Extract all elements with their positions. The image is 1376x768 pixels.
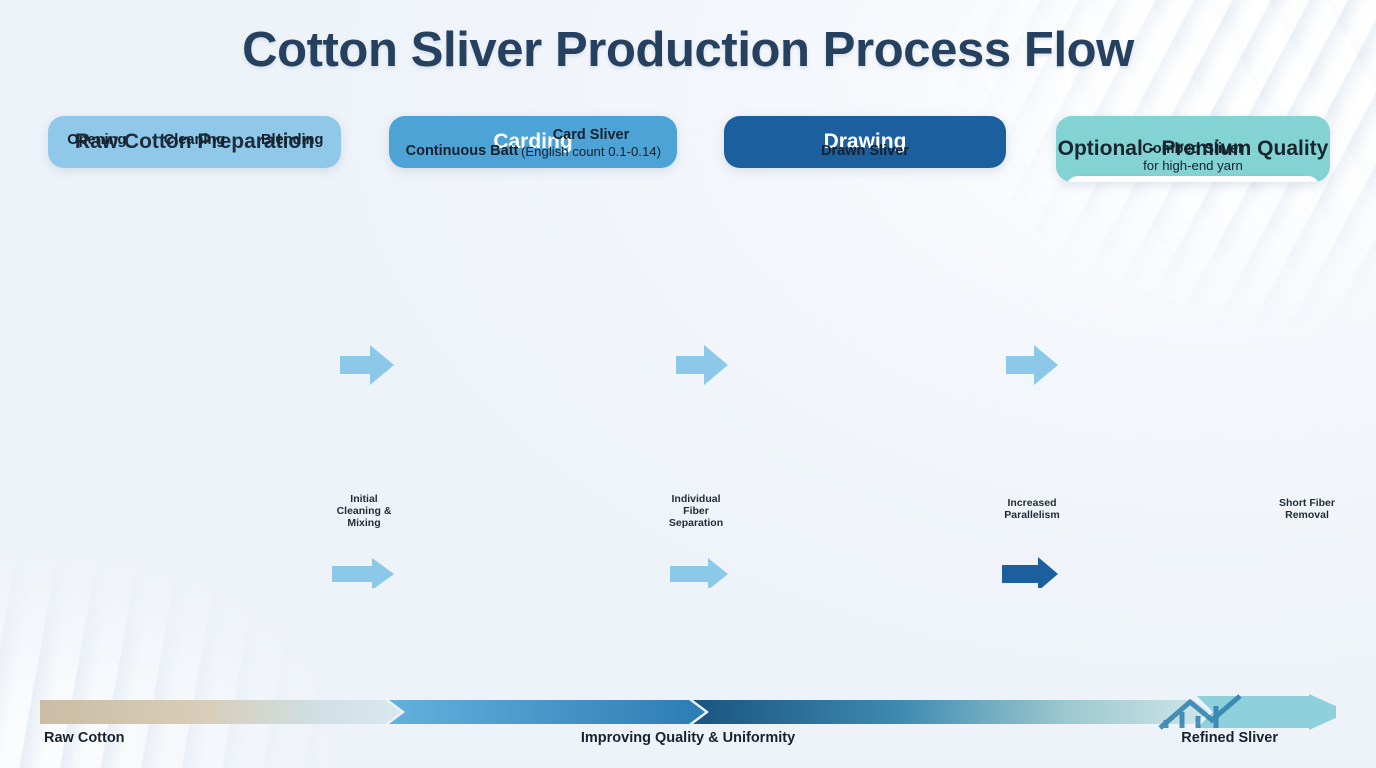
sub-step-label-continuous-batt: Continuous Batt: [397, 143, 527, 160]
product-combing: Combed Sliver for high-end yarn: [1056, 116, 1330, 182]
sub-steps-raw-cotton: Opening Cleaning Blending: [48, 116, 341, 168]
connector-arrow-1-lower: [330, 556, 398, 588]
progress-segment-mid: [389, 700, 705, 724]
connector-arrow-2: [674, 343, 730, 387]
progress-bar: [40, 694, 1336, 730]
progress-label-middle: Improving Quality & Uniformity: [581, 730, 795, 746]
product-carding: Continuous Batt Card Sliver (English cou…: [389, 116, 677, 168]
product-name-card-sliver: Card Sliver: [553, 127, 630, 143]
connector-arrow-1: [338, 343, 396, 387]
page-title: Cotton Sliver Production Process Flow: [0, 22, 1376, 78]
process-flow-panels: Raw Cotton Preparation: [0, 116, 1376, 656]
connector-label-increased-parallelism: Increased Parallelism: [996, 498, 1068, 522]
product-subtitle-combed-sliver: for high-end yarn: [1056, 158, 1330, 174]
product-label-drawn-sliver: Drawn Sliver: [724, 143, 1006, 160]
progress-labels: Raw Cotton Improving Quality & Uniformit…: [40, 730, 1336, 758]
connector-arrow-3: [1004, 343, 1060, 387]
sub-step-label-cleaning: Cleaning: [146, 132, 244, 148]
panel-raw-cotton-preparation[interactable]: Raw Cotton Preparation: [48, 116, 341, 168]
panel-carding[interactable]: Carding: [389, 116, 677, 168]
product-name-combed-sliver: Combed Sliver: [1142, 141, 1244, 157]
connector-label-initial-cleaning-mixing: Initial Cleaning & Mixing: [333, 494, 395, 529]
progress-label-end: Refined Sliver: [1181, 730, 1278, 746]
progress-segment-raw: [40, 700, 401, 724]
panel-optional-premium-quality[interactable]: Optional - Premium Quality: [1056, 116, 1330, 182]
panel-drawing[interactable]: Drawing: [724, 116, 1006, 168]
sub-step-label-blending: Blending: [243, 132, 341, 148]
connector-label-individual-fiber-separation: Individual Fiber Separation: [664, 494, 728, 529]
product-subtitle-card-sliver: (English count 0.1-0.14): [511, 144, 671, 160]
progress-segment-refined: [693, 700, 1209, 724]
connector-arrow-3-lower: [1000, 556, 1062, 588]
connector-label-short-fiber-removal: Short Fiber Removal: [1276, 498, 1338, 522]
progress-label-start: Raw Cotton: [44, 730, 125, 746]
product-drawing: Drawn Sliver: [724, 116, 1006, 168]
product-label-combed-sliver: Combed Sliver for high-end yarn: [1056, 141, 1330, 174]
sub-step-label-opening: Opening: [48, 132, 146, 148]
connector-arrow-2-lower: [668, 556, 732, 588]
